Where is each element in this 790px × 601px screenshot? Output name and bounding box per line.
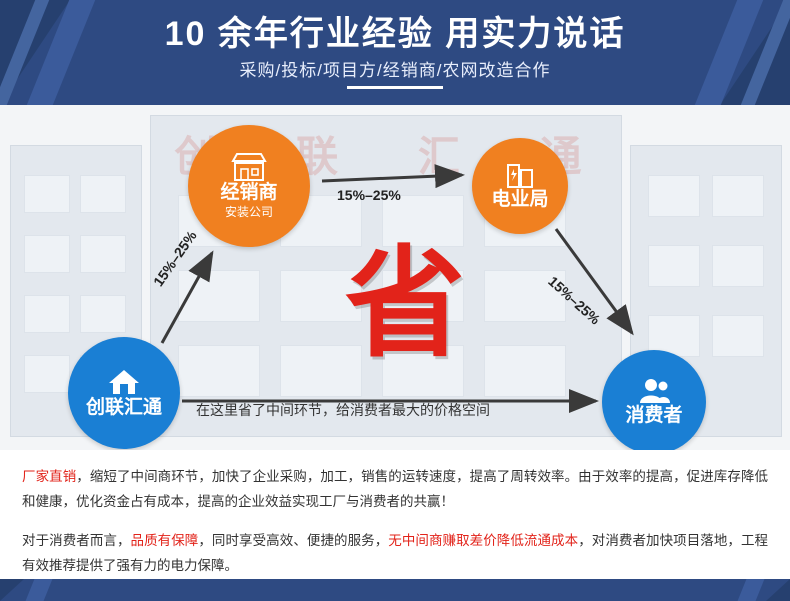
footer-left-triangle (0, 579, 24, 601)
footer-right-triangle (766, 579, 790, 601)
building-icon (505, 161, 535, 189)
arrow-label-dealer-to-power: 15%–25% (337, 187, 401, 203)
header-subtitle: 采购/投标/项目方/经销商/农网改造合作 (0, 59, 790, 83)
user-icon (637, 377, 671, 405)
shop-icon (230, 152, 268, 182)
paragraph-2-highlight-a: 品质有保障 (131, 533, 199, 548)
paragraph-2-highlight-b: 无中间商赚取差价降低流通成本 (388, 533, 578, 548)
header-title: 10 余年行业经验 用实力说话 (0, 14, 790, 54)
paragraph-1-highlight: 厂家直销 (22, 469, 76, 484)
node-brand[interactable]: 创联汇通 (68, 337, 180, 449)
node-power-bureau[interactable]: 电业局 (472, 138, 568, 234)
arrow-dealer-to-power (322, 175, 462, 181)
diagram-stage: 创 联 汇 通 15%–25% 15%–25% 15%–25% 在这里省了中间环… (0, 105, 790, 450)
node-dealer[interactable]: 经销商 安装公司 (188, 125, 310, 247)
promo-banner: 10 余年行业经验 用实力说话 采购/投标/项目方/经销商/农网改造合作 (0, 0, 790, 601)
header-bar: 10 余年行业经验 用实力说话 采购/投标/项目方/经销商/农网改造合作 (0, 0, 790, 105)
footer-band-left (26, 579, 53, 601)
center-character: 省 (330, 245, 480, 365)
node-power-bureau-label: 电业局 (491, 189, 548, 211)
node-brand-label: 创联汇通 (86, 397, 162, 419)
home-icon (107, 367, 141, 397)
arrow-label-brand-to-consumer: 在这里省了中间环节，给消费者最大的价格空间 (196, 400, 490, 420)
header-underline (347, 86, 443, 89)
node-dealer-label: 经销商 (220, 182, 277, 204)
node-consumer-label: 消费者 (625, 405, 682, 427)
footer-band-right (738, 579, 765, 601)
paragraph-2-text-b: ，同时享受高效、便捷的服务， (198, 533, 388, 548)
paragraph-2: 对于消费者而言，品质有保障，同时享受高效、便捷的服务，无中间商赚取差价降低流通成… (22, 528, 768, 578)
paragraph-1-text: ，缩短了中间商环节，加快了企业采购，加工，销售的运转速度，提高了周转效率。由于效… (22, 469, 768, 509)
paragraph-1: 厂家直销，缩短了中间商环节，加快了企业采购，加工，销售的运转速度，提高了周转效率… (22, 464, 768, 514)
paragraph-2-text-a: 对于消费者而言， (22, 533, 131, 548)
description-block: 厂家直销，缩短了中间商环节，加快了企业采购，加工，销售的运转速度，提高了周转效率… (0, 450, 790, 580)
node-consumer[interactable]: 消费者 (602, 350, 706, 450)
footer-bar (0, 579, 790, 601)
node-dealer-sublabel: 安装公司 (225, 205, 273, 220)
